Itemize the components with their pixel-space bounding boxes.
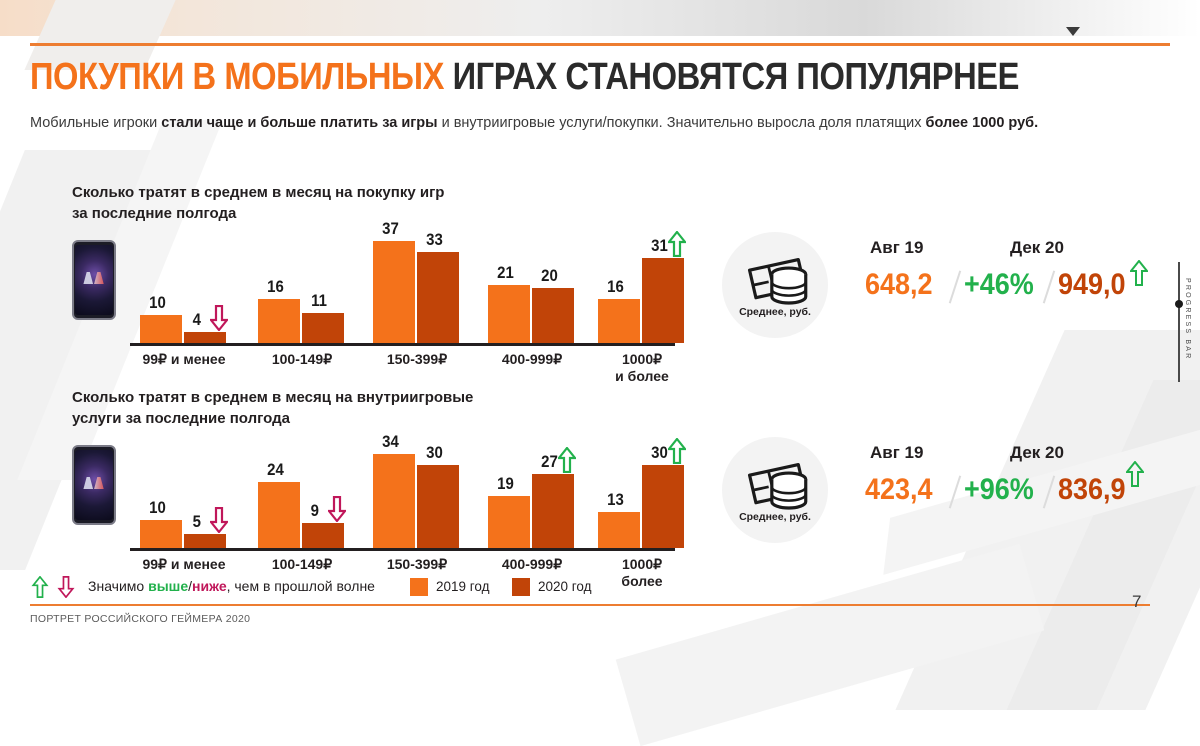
money-icon [722,232,828,338]
smartphone-screen [75,245,113,315]
bar [642,465,684,548]
bar [598,299,640,343]
page-title: ПОКУПКИ В МОБИЛЬНЫХ ИГРАХ СТАНОВЯТСЯ ПОП… [30,55,1002,99]
category-label: 150-399₽ [355,556,479,573]
page-subtitle: Мобильные игроки стали чаще и больше пла… [30,113,1120,134]
bar [488,496,530,548]
smartphone-icon [72,445,116,525]
category-label: 99₽ и менее [122,351,246,368]
bar [532,474,574,548]
arrow-up-icon [668,438,686,464]
bar [373,454,415,548]
category-label: 400-999₽ [470,556,594,573]
smartphone-screen [75,450,113,520]
bar-group: 2120 [488,211,576,343]
category-label: 100-149₽ [240,556,364,573]
average-panel-games: Среднее, руб. Авг 19 Дек 20 648,2 +46% 9… [722,232,1142,344]
bar-value-label: 31 [651,236,668,256]
plot-area-ingame: 105249343019271330 [130,419,675,551]
category-label: 100-149₽ [240,351,364,368]
subtitle-bold-2: более 1000 руб. [926,115,1039,131]
bar-value-label: 10 [149,498,166,518]
legend-significance-note: Значимо выше/ниже, чем в прошлой волне [88,578,375,594]
bar-value-label: 10 [149,293,166,313]
bar-value-label: 4 [193,310,201,330]
bar [184,332,226,343]
bar [417,252,459,343]
arrow-up-icon [1126,461,1144,487]
bar-value-label: 13 [607,490,624,510]
money-icon-circle: Среднее, руб. [722,437,828,543]
arrow-up-icon [668,231,686,257]
arrow-up-icon [1130,260,1148,286]
legend-swatch-2020 [512,578,530,596]
bar-group: 249 [258,416,346,548]
bar [532,288,574,343]
period-label-left: Авг 19 [870,238,923,258]
arrow-down-icon [210,507,228,533]
x-axis-line [130,548,675,551]
arrow-down-icon [56,576,76,598]
arrow-up-icon [30,576,50,598]
bar [140,315,182,343]
category-label: 400-999₽ [470,351,594,368]
bar [258,482,300,548]
progress-bar-track [1178,262,1180,382]
category-label: 99₽ и менее [122,556,246,573]
average-value-right: 949,0 [1058,268,1126,302]
bar-group: 104 [140,211,228,343]
divider-slash [1043,476,1055,509]
average-value-left: 423,4 [865,473,933,507]
bar [488,285,530,343]
bar-group: 105 [140,416,228,548]
bar [184,534,226,548]
arrow-down-icon [210,305,228,331]
bar-value-label: 5 [193,512,201,532]
bar [373,241,415,343]
bar [140,520,182,548]
slide-position-marker-icon [1066,27,1080,36]
money-icon-circle: Среднее, руб. [722,232,828,338]
bar-group: 3430 [373,416,461,548]
bar-value-label: 34 [382,432,399,452]
legend-label-2020: 2020 год [538,579,592,594]
bar-value-label: 16 [607,277,624,297]
average-value-left: 648,2 [865,268,933,302]
bar-value-label: 30 [426,443,443,463]
top-gradient-band [0,0,1200,36]
category-label: 150-399₽ [355,351,479,368]
footer-note: ПОРТРЕТ РОССИЙСКОГО ГЕЙМЕРА 2020 [30,613,250,625]
page-title-highlight: ПОКУПКИ В МОБИЛЬНЫХ [30,56,444,98]
bar-group: 1611 [258,211,346,343]
divider-slash [1043,271,1055,304]
legend-note-suffix: , чем в прошлой волне [227,578,375,594]
bar [302,523,344,548]
page-number: 7 [1132,592,1141,612]
category-label: 1000₽ и более [580,351,704,385]
progress-bar[interactable]: PROGRESS BAR [1174,262,1198,382]
bar [642,258,684,343]
average-value-right: 836,9 [1058,473,1126,507]
legend-label-2019: 2019 год [436,579,490,594]
bar-group: 1631 [598,211,686,343]
legend-note-prefix: Значимо [88,578,148,594]
bar [302,313,344,343]
legend-note-down: ниже [192,578,227,594]
progress-bar-thumb[interactable] [1175,300,1183,308]
bar-value-label: 19 [497,474,514,494]
bar [417,465,459,548]
bar-value-label: 30 [651,443,668,463]
average-change: +96% [964,473,1034,507]
bar-value-label: 24 [267,460,284,480]
subtitle-bold-1: стали чаще и больше платить за игры [161,115,437,131]
divider-slash [949,476,961,509]
average-panel-ingame: Среднее, руб. Авг 19 Дек 20 423,4 +96% 8… [722,437,1142,549]
bar-value-label: 21 [497,263,514,283]
subtitle-text-2: и внутриигровые услуги/покупки. Значител… [438,115,926,131]
average-change: +46% [964,268,1034,302]
footer-divider-rule [30,604,1150,606]
bar-group: 1927 [488,416,576,548]
bar-value-label: 9 [311,501,319,521]
subtitle-text-1: Мобильные игроки [30,115,161,131]
bar-value-label: 20 [541,266,558,286]
header-divider-rule [30,43,1170,46]
smartphone-icon [72,240,116,320]
plot-area-games: 1041611373321201631 [130,214,675,346]
money-icon-label: Среднее, руб. [722,511,828,523]
bar [258,299,300,343]
legend-swatch-2019 [410,578,428,596]
period-label-right: Дек 20 [1010,238,1064,258]
period-label-right: Дек 20 [1010,443,1064,463]
page-title-rest: ИГРАХ СТАНОВЯТСЯ ПОПУЛЯРНЕЕ [453,56,1019,98]
divider-slash [949,271,961,304]
bar-value-label: 11 [311,291,327,311]
bar-group: 1330 [598,416,686,548]
progress-bar-label: PROGRESS BAR [1184,278,1191,360]
legend-note-up: выше [148,578,188,594]
bar [598,512,640,548]
period-label-left: Авг 19 [870,443,923,463]
bar-value-label: 37 [382,219,399,239]
chart-block-ingame: Сколько тратят в среднем в месяц на внут… [72,387,692,567]
bar-value-label: 33 [426,230,443,250]
bar-group: 3733 [373,211,461,343]
chart-block-games: Сколько тратят в среднем в месяц на поку… [72,182,692,362]
category-label: 1000₽ более [580,556,704,590]
bar-value-label: 16 [267,277,284,297]
money-icon-label: Среднее, руб. [722,306,828,318]
arrow-up-icon [558,447,576,473]
x-axis-line [130,343,675,346]
arrow-down-icon [328,496,346,522]
bar-value-label: 27 [541,452,558,472]
money-icon [722,437,828,543]
